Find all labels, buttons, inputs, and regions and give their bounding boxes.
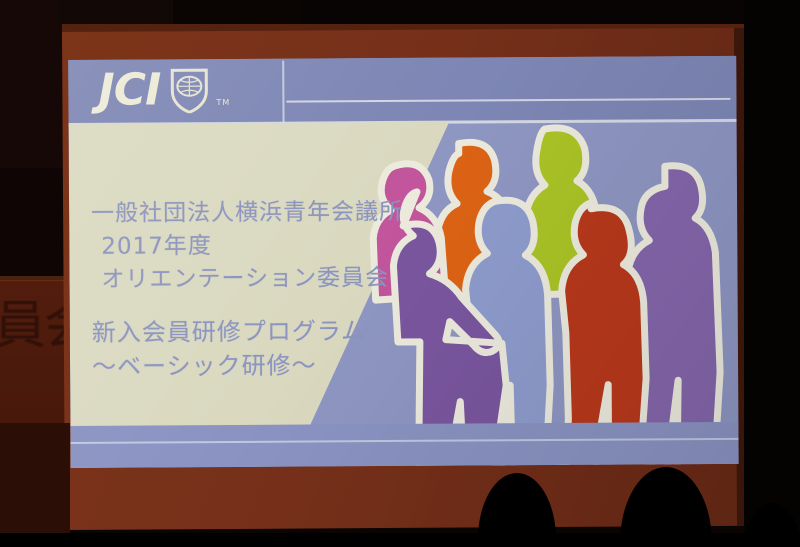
foreground-shadow-left — [0, 423, 70, 533]
slide-header-band: JCI TM — [68, 56, 736, 124]
header-vertical-divider — [282, 61, 284, 123]
dark-curtain-right — [744, 0, 800, 533]
title-line-2: 2017年度 — [91, 229, 403, 264]
presentation-slide: JCI TM — [68, 56, 738, 468]
trademark-symbol: TM — [216, 98, 230, 107]
jci-logo: JCI TM — [98, 67, 230, 114]
slide-subtitle-block: 新入会員研修プログラム ～ベーシック研修～ — [92, 314, 367, 384]
jci-shield-globe-icon — [170, 67, 208, 113]
slide-title-block: 一般社団法人横浜青年会議所 2017年度 オリエンテーション委員会 — [91, 196, 404, 297]
jci-wordmark: JCI — [98, 68, 160, 112]
wall-trim — [0, 276, 66, 281]
title-line-1: 一般社団法人横浜青年会議所 — [91, 196, 403, 231]
auditorium-room: 員会 JCI TM — [0, 0, 800, 533]
projection-screen: JCI TM — [62, 28, 753, 530]
group-of-people-silhouettes — [369, 120, 739, 466]
footer-accent-line — [71, 438, 739, 444]
wall-panel-middle — [0, 168, 66, 282]
subtitle-line-2: ～ベーシック研修～ — [92, 348, 366, 384]
subtitle-line-1: 新入会員研修プログラム — [92, 314, 366, 350]
header-rule-upper — [286, 98, 730, 103]
title-line-3: オリエンテーション委員会 — [91, 262, 403, 297]
slide-footer-band — [70, 422, 738, 468]
wall-calligraphy-text: 員会 — [0, 300, 72, 410]
